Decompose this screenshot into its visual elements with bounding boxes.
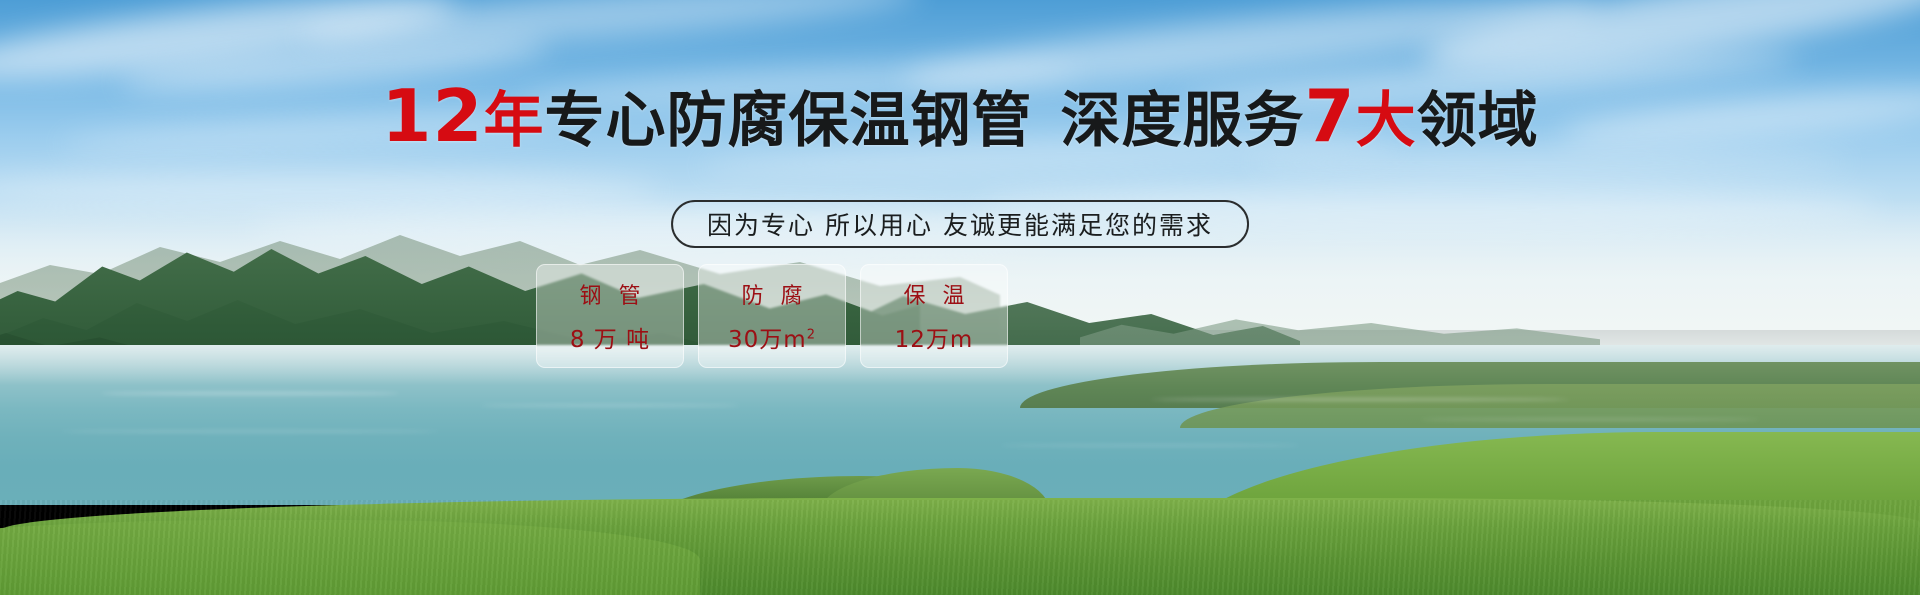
stat-card-steel-pipe[interactable]: 钢 管 8 万 吨 xyxy=(536,264,684,368)
headline-fields-word: 领域 xyxy=(1417,86,1539,156)
headline-years-unit: 年 xyxy=(484,86,545,156)
stat-card-anticorrosion[interactable]: 防 腐 30万m2 xyxy=(698,264,846,368)
stat-card-value: 30万m2 xyxy=(728,320,816,354)
water-ripple xyxy=(480,404,740,407)
stat-card-value-text: 12万m xyxy=(895,327,974,353)
headline-fields-unit: 大 xyxy=(1356,86,1417,156)
headline-years-number: 12 xyxy=(381,74,483,158)
stat-card-value-text: 30万m xyxy=(728,327,807,353)
stat-card-title: 防 腐 xyxy=(737,278,808,310)
headline-service-phrase: 深度服务 xyxy=(1061,86,1305,156)
stat-card-group: 钢 管 8 万 吨 防 腐 30万m2 保 温 12万m xyxy=(536,264,1008,368)
hero-banner: 12年专心防腐保温钢管深度服务7大领域 因为专心 所以用心 友诚更能满足您的需求… xyxy=(0,0,1920,595)
water-ripple xyxy=(1150,398,1570,401)
headline-main-phrase: 专心防腐保温钢管 xyxy=(545,86,1033,156)
stat-card-title: 保 温 xyxy=(899,278,970,310)
stat-card-value: 12万m xyxy=(895,320,974,354)
water-ripple xyxy=(1420,418,1760,421)
water-ripple xyxy=(60,430,440,433)
stat-card-title: 钢 管 xyxy=(575,278,646,310)
banner-subtitle-pill: 因为专心 所以用心 友诚更能满足您的需求 xyxy=(671,200,1249,248)
banner-subtitle-text: 因为专心 所以用心 友诚更能满足您的需求 xyxy=(707,206,1213,242)
water-ripple xyxy=(100,392,400,395)
stat-card-value-superscript: 2 xyxy=(807,327,816,342)
grass-texture xyxy=(0,500,1920,595)
stat-card-value: 8 万 吨 xyxy=(570,320,650,354)
stat-card-value-text: 8 万 吨 xyxy=(570,327,650,353)
water-ripple xyxy=(1000,444,1300,447)
headline-fields-number: 7 xyxy=(1305,74,1356,158)
stat-card-insulation[interactable]: 保 温 12万m xyxy=(860,264,1008,368)
banner-headline: 12年专心防腐保温钢管深度服务7大领域 xyxy=(0,86,1920,151)
